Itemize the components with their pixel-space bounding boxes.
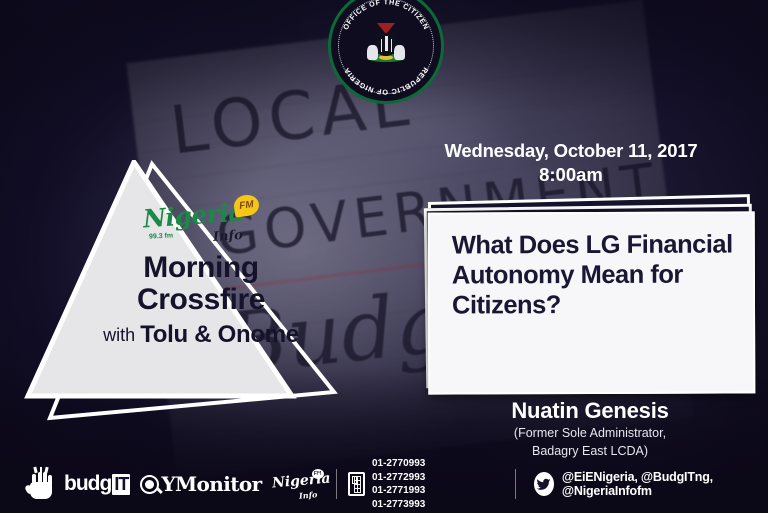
phone-number-4: 01-2773993 (372, 498, 450, 512)
logo-info-text: Info (213, 228, 244, 245)
ymonitor-label: YMonitor (161, 472, 261, 496)
event-date: Wednesday, October 11, 2017 (396, 140, 746, 162)
program-hosts-row: withTolu & Onome (86, 321, 316, 349)
program-info: Nigeria FM 99.3 fm Info Morning Crossfir… (86, 195, 316, 349)
ymonitor-logo[interactable]: YMonitor (140, 472, 261, 496)
nigeria-info-fm-logo: Nigeria FM 99.3 fm Info (141, 195, 261, 241)
program-title-line-2: Crossfire (86, 284, 316, 316)
budgit-accent: IT (112, 474, 130, 495)
horse-right-icon (394, 45, 405, 60)
with-label: with (103, 325, 135, 346)
office-of-the-citizen-seal: OFFICE OF THE CITIZEN REPUBLIC OF NIGERI… (328, 0, 444, 104)
event-headline: What Does LG Financial Autonomy Mean for… (452, 229, 739, 320)
twitter-handles: @EiENigeria, @BudgITng, @NigeriaInfofm (562, 470, 768, 498)
speaker-role-line-1: (Former Sole Administrator, (420, 426, 760, 442)
telephone-icon (348, 472, 365, 496)
event-datetime: Wednesday, October 11, 2017 8:00am (396, 140, 746, 186)
twitter-icon[interactable] (534, 472, 554, 496)
phone-number-2: 01-2772993 (372, 471, 450, 485)
logo-frequency-text: 99.3 fm (149, 232, 173, 240)
program-triangle-block: Nigeria FM 99.3 fm Info Morning Crossfir… (24, 160, 354, 425)
speaker-block: Nuatin Genesis (Former Sole Administrato… (420, 398, 760, 459)
budgit-label: budg (64, 472, 111, 496)
footer-divider-2 (515, 469, 516, 499)
phone-number-1: 01-2770993 (372, 457, 450, 471)
footer-info-text: Info (299, 489, 318, 501)
twitter-contact[interactable]: @EiENigeria, @BudgITng, @NigeriaInfofm (528, 470, 768, 498)
footer-bar: budgIT YMonitor FM Nigeria Info 01-27709… (0, 455, 768, 513)
hosts-names: Tolu & Onome (140, 321, 299, 349)
speaker-name: Nuatin Genesis (420, 398, 760, 424)
contact-phones: 01-277099301-2772993 01-277199301-277399… (348, 457, 502, 511)
shield-icon (376, 33, 396, 56)
horse-left-icon (367, 45, 378, 60)
program-title-line-1: Morning (86, 253, 316, 284)
footer-divider-1 (336, 469, 337, 499)
phone-numbers: 01-277099301-2772993 01-277199301-277399… (372, 457, 503, 511)
eie-nigeria-hand-icon[interactable] (28, 469, 54, 499)
nigeria-info-footer-logo[interactable]: FM Nigeria Info (272, 469, 324, 499)
budgit-logo[interactable]: budgIT (64, 472, 130, 496)
nigeria-coat-of-arms (364, 23, 408, 69)
event-flyer: LOCAL GOVERNMENT Budget OFFICE OF THE CI… (0, 0, 768, 513)
magnifier-icon (140, 475, 159, 494)
phone-number-3: 01-2771993 (372, 484, 450, 498)
headline-card: What Does LG Financial Autonomy Mean for… (428, 211, 756, 394)
event-time: 8:00am (396, 164, 746, 186)
svg-text:REPUBLIC OF NIGERIA: REPUBLIC OF NIGERIA (342, 66, 431, 97)
footer-nigeria-text: Nigeria (271, 470, 331, 491)
partner-logos: budgIT YMonitor FM Nigeria Info (0, 469, 324, 499)
